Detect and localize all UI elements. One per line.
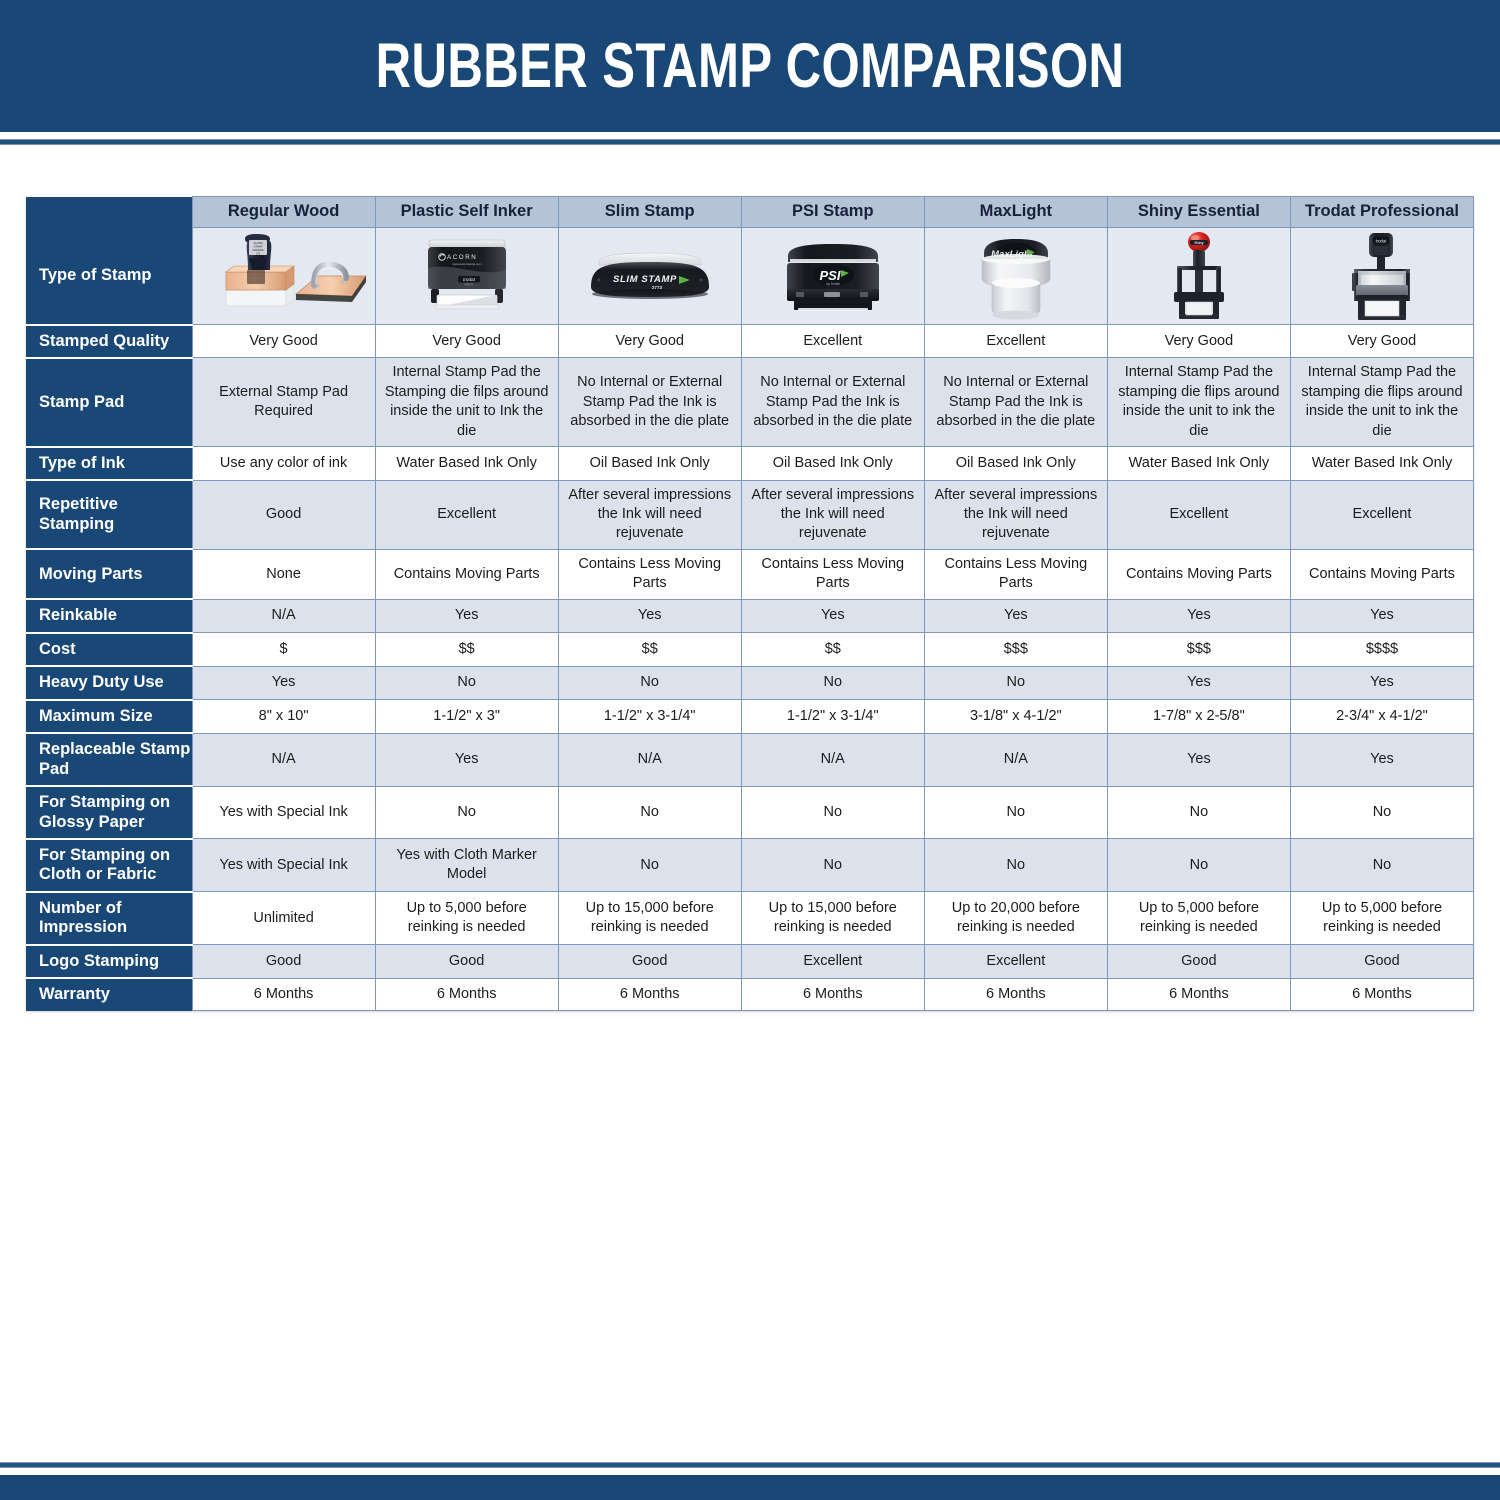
cell-r9-c6: Yes [1107,666,1290,699]
cell-r3-c5: No Internal or External Stamp Pad the In… [924,358,1107,447]
cell-r2-c2: Very Good [375,325,558,358]
cell-r12-c1: Yes with Special Ink [192,786,375,839]
cell-r11-c7: Yes [1290,733,1473,786]
table-row: Repetitive StampingGoodExcellentAfter se… [26,480,1474,549]
table-row: Moving PartsNoneContains Moving PartsCon… [26,549,1474,599]
cell-r4-c1: Use any color of ink [192,447,375,480]
cell-r12-c5: No [924,786,1107,839]
cell-r14-c7: Up to 5,000 before reinking is needed [1290,892,1473,945]
svg-text:trodat: trodat [463,277,475,282]
svg-text:by trodat: by trodat [826,282,840,286]
svg-text:2773: 2773 [652,285,663,290]
column-header-6: Shiny Essential [1107,197,1290,228]
row-label-14: Number of Impression [26,892,192,945]
cell-r13-c7: No [1290,839,1473,892]
cell-r3-c3: No Internal or External Stamp Pad the In… [558,358,741,447]
trodat-professional-stamp-image: trodat [1290,228,1473,325]
cell-r15-c3: Good [558,945,741,978]
slim-stamp-image: SLIM STAMP 2773 [558,228,741,325]
cell-r2-c3: Very Good [558,325,741,358]
row-label-10: Maximum Size [26,700,192,733]
footer-divider-rule [0,1462,1500,1468]
row-label-6: Moving Parts [26,549,192,599]
svg-text:www.acornstamp.com: www.acornstamp.com [452,262,482,266]
svg-text:CO: CO [256,251,260,255]
cell-r14-c4: Up to 15,000 before reinking is needed [741,892,924,945]
cell-r4-c6: Water Based Ink Only [1107,447,1290,480]
cell-r9-c7: Yes [1290,666,1473,699]
cell-r11-c2: Yes [375,733,558,786]
cell-r8-c2: $$ [375,633,558,666]
row-label-13: For Stamping on Cloth or Fabric [26,839,192,892]
page-header-banner: RUBBER STAMP COMPARISON [0,0,1500,132]
cell-r14-c6: Up to 5,000 before reinking is needed [1107,892,1290,945]
cell-r9-c3: No [558,666,741,699]
table-row: Replaceable Stamp PadN/AYesN/AN/AN/AYesY… [26,733,1474,786]
column-header-7: Trodat Professional [1290,197,1473,228]
cell-r10-c5: 3-1/8" x 4-1/2" [924,700,1107,733]
cell-r12-c4: No [741,786,924,839]
cell-r13-c2: Yes with Cloth Marker Model [375,839,558,892]
cell-r13-c6: No [1107,839,1290,892]
cell-r5-c3: After several impressions the Ink will n… [558,480,741,549]
row-label-4: Type of Ink [26,447,192,480]
cell-r9-c2: No [375,666,558,699]
column-header-1: Regular Wood [192,197,375,228]
cell-r5-c4: After several impressions the Ink will n… [741,480,924,549]
header-gap [0,132,1500,139]
svg-text:STAMP: STAMP [253,245,262,249]
cell-r10-c3: 1-1/2" x 3-1/4" [558,700,741,733]
cell-r3-c4: No Internal or External Stamp Pad the In… [741,358,924,447]
cell-r16-c4: 6 Months [741,978,924,1010]
cell-r14-c2: Up to 5,000 before reinking is needed [375,892,558,945]
cell-r3-c7: Internal Stamp Pad the stamping die flip… [1290,358,1473,447]
cell-r6-c3: Contains Less Moving Parts [558,549,741,599]
cell-r13-c5: No [924,839,1107,892]
table-body: Type of Stamp [26,228,1474,1011]
column-header-row: Regular WoodPlastic Self InkerSlim Stamp… [26,197,1474,228]
cell-r16-c2: 6 Months [375,978,558,1010]
column-header-4: PSI Stamp [741,197,924,228]
comparison-table: Regular WoodPlastic Self InkerSlim Stamp… [26,196,1474,1011]
cell-r7-c1: N/A [192,599,375,632]
table-head: Regular WoodPlastic Self InkerSlim Stamp… [26,197,1474,228]
cell-r5-c2: Excellent [375,480,558,549]
cell-r2-c4: Excellent [741,325,924,358]
cell-r2-c5: Excellent [924,325,1107,358]
cell-r8-c7: $$$$ [1290,633,1473,666]
cell-r12-c3: No [558,786,741,839]
column-header-3: Slim Stamp [558,197,741,228]
table-row: Type of Stamp [26,228,1474,325]
row-label-5: Repetitive Stamping [26,480,192,549]
table-row: For Stamping on Cloth or FabricYes with … [26,839,1474,892]
table-row: Cost$$$$$$$$$$$$$$$$$ [26,633,1474,666]
page-title: RUBBER STAMP COMPARISON [376,30,1125,102]
svg-text:Shiny: Shiny [1194,241,1203,245]
table-row: Maximum Size8" x 10"1-1/2" x 3"1-1/2" x … [26,700,1474,733]
cell-r15-c7: Good [1290,945,1473,978]
cell-r3-c2: Internal Stamp Pad the Stamping die filp… [375,358,558,447]
cell-r14-c5: Up to 20,000 before reinking is needed [924,892,1107,945]
cell-r13-c3: No [558,839,741,892]
cell-r15-c4: Excellent [741,945,924,978]
svg-text:SLIM STAMP: SLIM STAMP [613,274,677,285]
svg-text:ACORN: ACORN [447,254,477,261]
cell-r11-c5: N/A [924,733,1107,786]
cell-r6-c4: Contains Less Moving Parts [741,549,924,599]
cell-r4-c2: Water Based Ink Only [375,447,558,480]
cell-r2-c6: Very Good [1107,325,1290,358]
table-row: Type of InkUse any color of inkWater Bas… [26,447,1474,480]
cell-r7-c4: Yes [741,599,924,632]
comparison-table-wrap: Regular WoodPlastic Self InkerSlim Stamp… [26,196,1474,1011]
cell-r4-c7: Water Based Ink Only [1290,447,1473,480]
table-row: Stamped QualityVery GoodVery GoodVery Go… [26,325,1474,358]
cell-r12-c7: No [1290,786,1473,839]
page-footer-banner [0,1475,1500,1500]
svg-text:trodat: trodat [1376,238,1388,243]
cell-r14-c3: Up to 15,000 before reinking is needed [558,892,741,945]
cell-r2-c7: Very Good [1290,325,1473,358]
row-label-15: Logo Stamping [26,945,192,978]
cell-r4-c5: Oil Based Ink Only [924,447,1107,480]
cell-r9-c1: Yes [192,666,375,699]
cell-r15-c1: Good [192,945,375,978]
cell-r9-c4: No [741,666,924,699]
cell-r8-c4: $$ [741,633,924,666]
table-row: Number of ImpressionUnlimitedUp to 5,000… [26,892,1474,945]
cell-r3-c6: Internal Stamp Pad the stamping die flip… [1107,358,1290,447]
row-label-1: Type of Stamp [26,228,192,325]
cell-r4-c4: Oil Based Ink Only [741,447,924,480]
row-label-16: Warranty [26,978,192,1010]
table-row: Logo StampingGoodGoodGoodExcellentExcell… [26,945,1474,978]
cell-r8-c3: $$ [558,633,741,666]
row-label-8: Cost [26,633,192,666]
cell-r7-c6: Yes [1107,599,1290,632]
cell-r7-c3: Yes [558,599,741,632]
cell-r6-c1: None [192,549,375,599]
column-header-2: Plastic Self Inker [375,197,558,228]
cell-r16-c1: 6 Months [192,978,375,1010]
shiny-essential-stamp-image-graphic: Shiny [1108,228,1290,324]
regular-wood-stamp-image-graphic: ACORNSTAMP MAKERSCO [193,228,375,324]
psi-stamp-image-graphic: PSI by trodat [742,228,924,324]
maxlight-stamp-image: MaxLight by trodat [924,228,1107,325]
regular-wood-stamp-image: ACORNSTAMP MAKERSCO [192,228,375,325]
cell-r6-c5: Contains Less Moving Parts [924,549,1107,599]
cell-r11-c6: Yes [1107,733,1290,786]
table-row: Warranty6 Months6 Months6 Months6 Months… [26,978,1474,1010]
row-label-12: For Stamping on Glossy Paper [26,786,192,839]
cell-r12-c6: No [1107,786,1290,839]
cell-r15-c6: Good [1107,945,1290,978]
cell-r2-c1: Very Good [192,325,375,358]
row-label-2: Stamped Quality [26,325,192,358]
cell-r16-c5: 6 Months [924,978,1107,1010]
cell-r16-c7: 6 Months [1290,978,1473,1010]
cell-r13-c1: Yes with Special Ink [192,839,375,892]
cell-r16-c6: 6 Months [1107,978,1290,1010]
table-row: Heavy Duty UseYesNoNoNoNoYesYes [26,666,1474,699]
row-label-3: Stamp Pad [26,358,192,447]
table-row: ReinkableN/AYesYesYesYesYesYes [26,599,1474,632]
cell-r11-c1: N/A [192,733,375,786]
cell-r16-c3: 6 Months [558,978,741,1010]
cell-r10-c1: 8" x 10" [192,700,375,733]
table-row: For Stamping on Glossy PaperYes with Spe… [26,786,1474,839]
slim-stamp-image-graphic: SLIM STAMP 2773 [559,228,741,324]
cell-r6-c7: Contains Moving Parts [1290,549,1473,599]
trodat-professional-stamp-image-graphic: trodat [1291,228,1473,324]
cell-r7-c7: Yes [1290,599,1473,632]
plastic-self-inker-stamp-image: ACORN www.acornstamp.com trodat PRINTY [375,228,558,325]
cell-r11-c3: N/A [558,733,741,786]
cell-r10-c4: 1-1/2" x 3-1/4" [741,700,924,733]
cell-r11-c4: N/A [741,733,924,786]
cell-r9-c5: No [924,666,1107,699]
shiny-essential-stamp-image: Shiny [1107,228,1290,325]
cell-r6-c6: Contains Moving Parts [1107,549,1290,599]
row-label-7: Reinkable [26,599,192,632]
cell-r15-c5: Excellent [924,945,1107,978]
header-divider-rule [0,139,1500,145]
cell-r10-c7: 2-3/4" x 4-1/2" [1290,700,1473,733]
cell-r5-c1: Good [192,480,375,549]
cell-r3-c1: External Stamp Pad Required [192,358,375,447]
cell-r10-c6: 1-7/8" x 2-5/8" [1107,700,1290,733]
cell-r7-c5: Yes [924,599,1107,632]
cell-r15-c2: Good [375,945,558,978]
cell-r8-c5: $$$ [924,633,1107,666]
psi-stamp-image: PSI by trodat [741,228,924,325]
svg-text:PSI: PSI [819,268,840,283]
cell-r7-c2: Yes [375,599,558,632]
svg-text:ACORN: ACORN [253,241,262,245]
cell-r5-c6: Excellent [1107,480,1290,549]
table-row: Stamp PadExternal Stamp Pad RequiredInte… [26,358,1474,447]
table-corner-cell [26,197,192,228]
cell-r14-c1: Unlimited [192,892,375,945]
cell-r8-c6: $$$ [1107,633,1290,666]
cell-r5-c5: After several impressions the Ink will n… [924,480,1107,549]
cell-r6-c2: Contains Moving Parts [375,549,558,599]
cell-r12-c2: No [375,786,558,839]
column-header-5: MaxLight [924,197,1107,228]
row-label-11: Replaceable Stamp Pad [26,733,192,786]
maxlight-stamp-image-graphic: MaxLight by trodat [925,228,1107,324]
cell-r8-c1: $ [192,633,375,666]
plastic-self-inker-stamp-image-graphic: ACORN www.acornstamp.com trodat PRINTY [376,228,558,324]
cell-r4-c3: Oil Based Ink Only [558,447,741,480]
row-label-9: Heavy Duty Use [26,666,192,699]
svg-text:PRINTY: PRINTY [464,283,474,287]
cell-r5-c7: Excellent [1290,480,1473,549]
cell-r13-c4: No [741,839,924,892]
comparison-infographic: RUBBER STAMP COMPARISON Regular WoodPlas… [0,0,1500,1500]
cell-r10-c2: 1-1/2" x 3" [375,700,558,733]
